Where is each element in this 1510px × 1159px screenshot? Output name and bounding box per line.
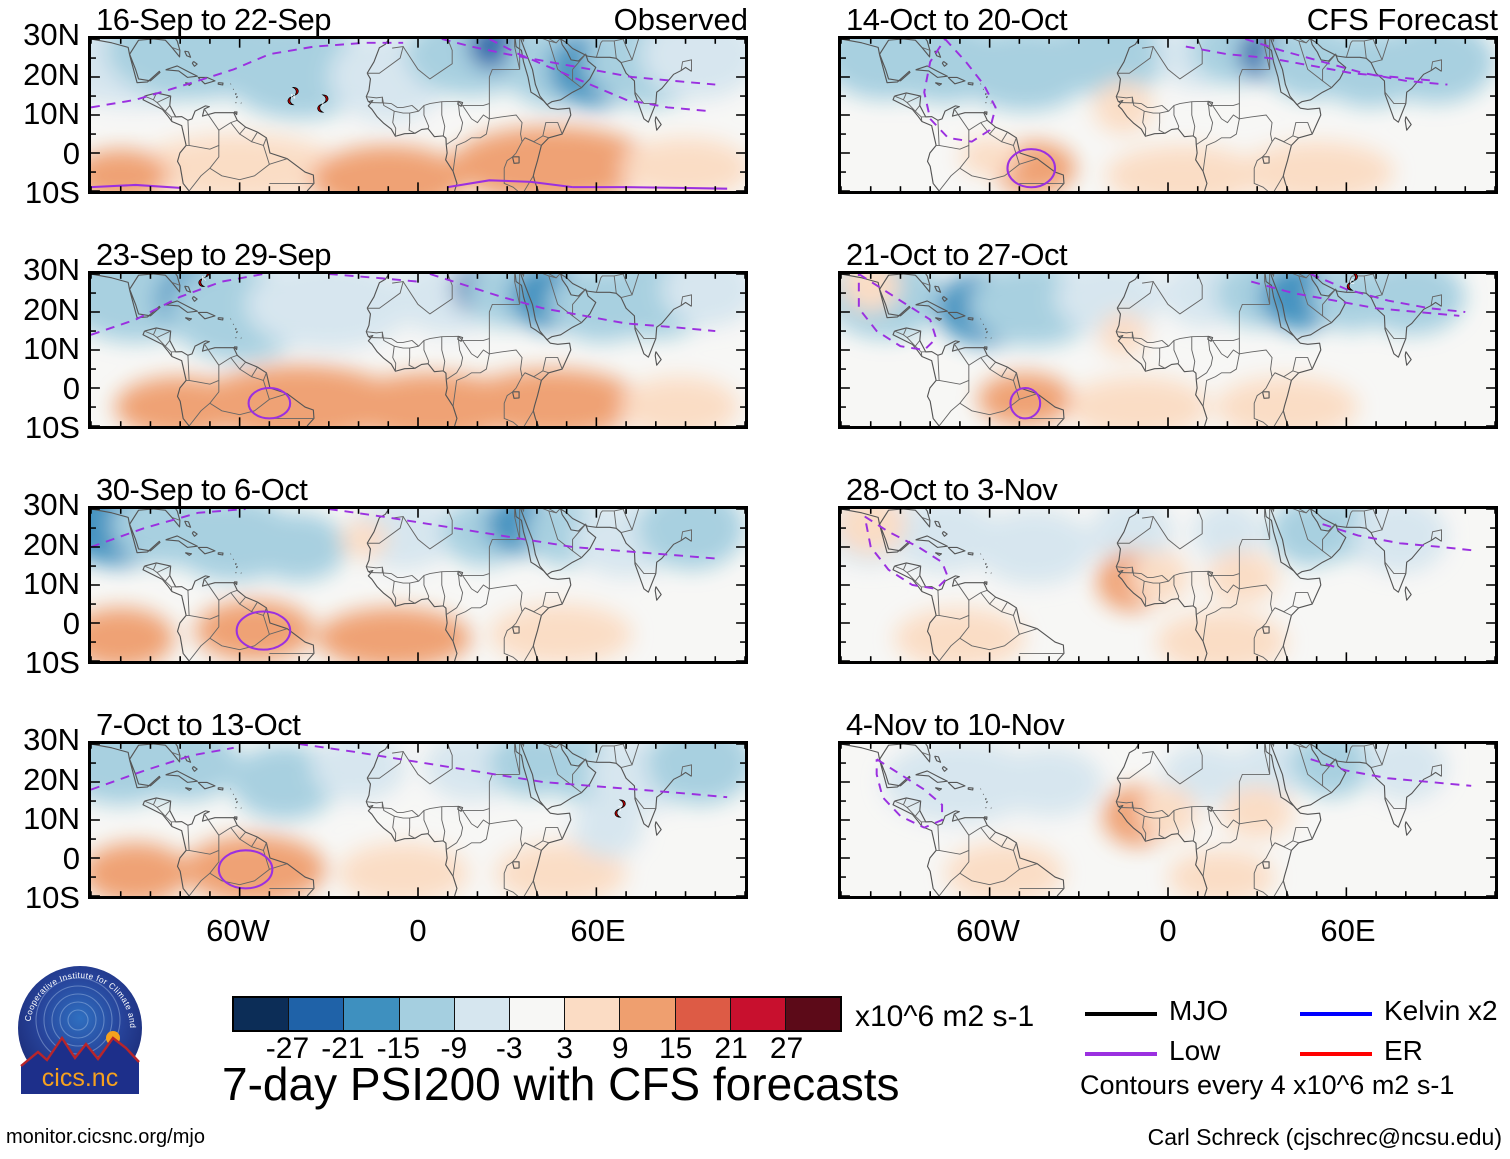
y-axis-tick-label: 10N [0, 96, 80, 132]
contour-interval-note: Contours every 4 x10^6 m2 s-1 [1080, 1070, 1454, 1101]
y-axis-tick-label: 10N [0, 331, 80, 367]
x-axis-tick-label: 0 [358, 913, 478, 949]
colorbar-swatch [510, 998, 565, 1030]
y-axis-tick-label: 0 [0, 371, 80, 407]
y-axis-tick-label: 0 [0, 841, 80, 877]
legend-label: Kelvin x2 [1384, 995, 1498, 1027]
y-axis-tick-label: 10N [0, 566, 80, 602]
y-axis-tick-label: 30N [0, 487, 80, 523]
legend-line-swatch [1300, 1052, 1372, 1056]
colorbar-unit-label: x10^6 m2 s-1 [855, 1000, 1034, 1034]
y-axis-tick-label: 10S [0, 175, 80, 211]
map-panel: NI [88, 36, 748, 194]
x-axis-tick-label: 60W [928, 913, 1048, 949]
legend-label: ER [1384, 1035, 1423, 1067]
legend-label: Low [1169, 1035, 1220, 1067]
legend-label: MJO [1169, 995, 1228, 1027]
y-axis-tick-label: 10N [0, 801, 80, 837]
svg-text:I: I [322, 101, 324, 108]
y-axis-tick-label: 30N [0, 252, 80, 288]
map-panel: C [838, 271, 1498, 429]
main-title: 7-day PSI200 with CFS forecasts [222, 1057, 900, 1111]
y-axis-tick-label: 20N [0, 57, 80, 93]
colorbar-swatch [620, 998, 675, 1030]
cics-nc-logo: Cooperative Institute for Climate and Sa… [14, 962, 146, 1094]
footer-url[interactable]: monitor.cicsnc.org/mjo [6, 1126, 205, 1149]
y-axis-tick-label: 30N [0, 722, 80, 758]
colorbar-swatch [234, 998, 289, 1030]
svg-text:K: K [202, 275, 207, 282]
legend-line-swatch [1085, 1012, 1157, 1016]
x-axis-tick-label: 0 [1108, 913, 1228, 949]
legend-line-swatch [1085, 1052, 1157, 1056]
colorbar-swatch [400, 998, 455, 1030]
map-panel [838, 36, 1498, 194]
legend-line-swatch [1300, 1012, 1372, 1016]
panel-title: 16-Sep to 22-Sep [96, 2, 331, 38]
panel-corner-label: Observed [614, 2, 748, 38]
y-axis-tick-label: 20N [0, 527, 80, 563]
colorbar-swatch [786, 998, 840, 1030]
panel-title: 30-Sep to 6-Oct [96, 472, 307, 508]
panel-corner-label: CFS Forecast [1307, 2, 1498, 38]
panel-title: 14-Oct to 20-Oct [846, 2, 1067, 38]
map-panel [88, 506, 748, 664]
x-axis-tick-label: 60E [538, 913, 658, 949]
map-panel: T [88, 741, 748, 899]
svg-text:C: C [1350, 279, 1355, 286]
footer-credit: Carl Schreck (cjschrec@ncsu.edu) [1148, 1124, 1502, 1151]
y-axis-tick-label: 0 [0, 136, 80, 172]
panel-title: 21-Oct to 27-Oct [846, 237, 1067, 273]
svg-text:cics.nc: cics.nc [42, 1064, 118, 1092]
map-panel: K [88, 271, 748, 429]
y-axis-tick-label: 10S [0, 410, 80, 446]
y-axis-tick-label: 0 [0, 606, 80, 642]
y-axis-tick-label: 10S [0, 645, 80, 681]
panel-title: 4-Nov to 10-Nov [846, 707, 1064, 743]
colorbar-swatch [676, 998, 731, 1030]
y-axis-tick-label: 20N [0, 292, 80, 328]
y-axis-tick-label: 10S [0, 880, 80, 916]
map-panel [838, 741, 1498, 899]
colorbar-swatch [731, 998, 786, 1030]
panel-title: 7-Oct to 13-Oct [96, 707, 300, 743]
panel-title: 28-Oct to 3-Nov [846, 472, 1057, 508]
svg-text:N: N [291, 94, 296, 101]
colorbar-swatch [455, 998, 510, 1030]
y-axis-tick-label: 20N [0, 762, 80, 798]
colorbar-swatch [289, 998, 344, 1030]
panel-title: 23-Sep to 29-Sep [96, 237, 331, 273]
colorbar-swatch [344, 998, 399, 1030]
map-panel [838, 506, 1498, 664]
x-axis-tick-label: 60E [1288, 913, 1408, 949]
x-axis-tick-label: 60W [178, 913, 298, 949]
colorbar [232, 996, 842, 1032]
colorbar-swatch [565, 998, 620, 1030]
y-axis-tick-label: 30N [0, 17, 80, 53]
